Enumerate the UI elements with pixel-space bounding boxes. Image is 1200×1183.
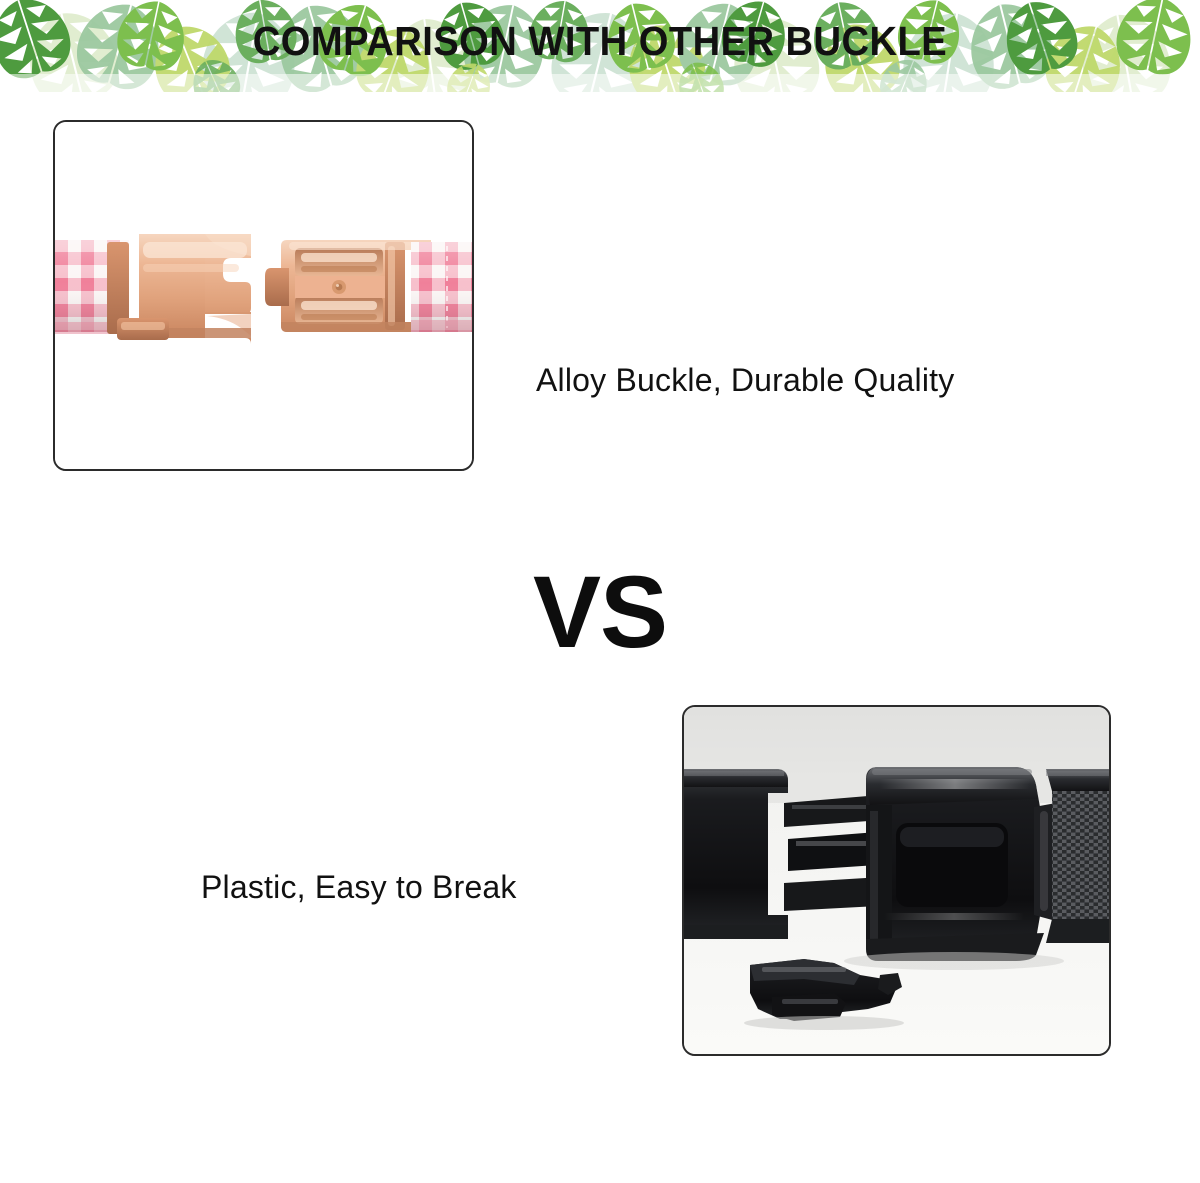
header-banner: COMPARISON WITH OTHER BUCKLE (0, 0, 1200, 92)
plastic-buckle-caption: Plastic, Easy to Break (201, 869, 517, 906)
alloy-buckle-photo-frame (53, 120, 474, 471)
rose-gold-alloy-buckle-photo (55, 122, 472, 469)
plastic-buckle-photo-frame (682, 705, 1111, 1056)
alloy-buckle-caption: Alloy Buckle, Durable Quality (536, 362, 954, 399)
page-title: COMPARISON WITH OTHER BUCKLE (42, 18, 1158, 65)
vs-label: VS (0, 561, 1200, 663)
black-plastic-buckle-photo (684, 707, 1109, 1054)
